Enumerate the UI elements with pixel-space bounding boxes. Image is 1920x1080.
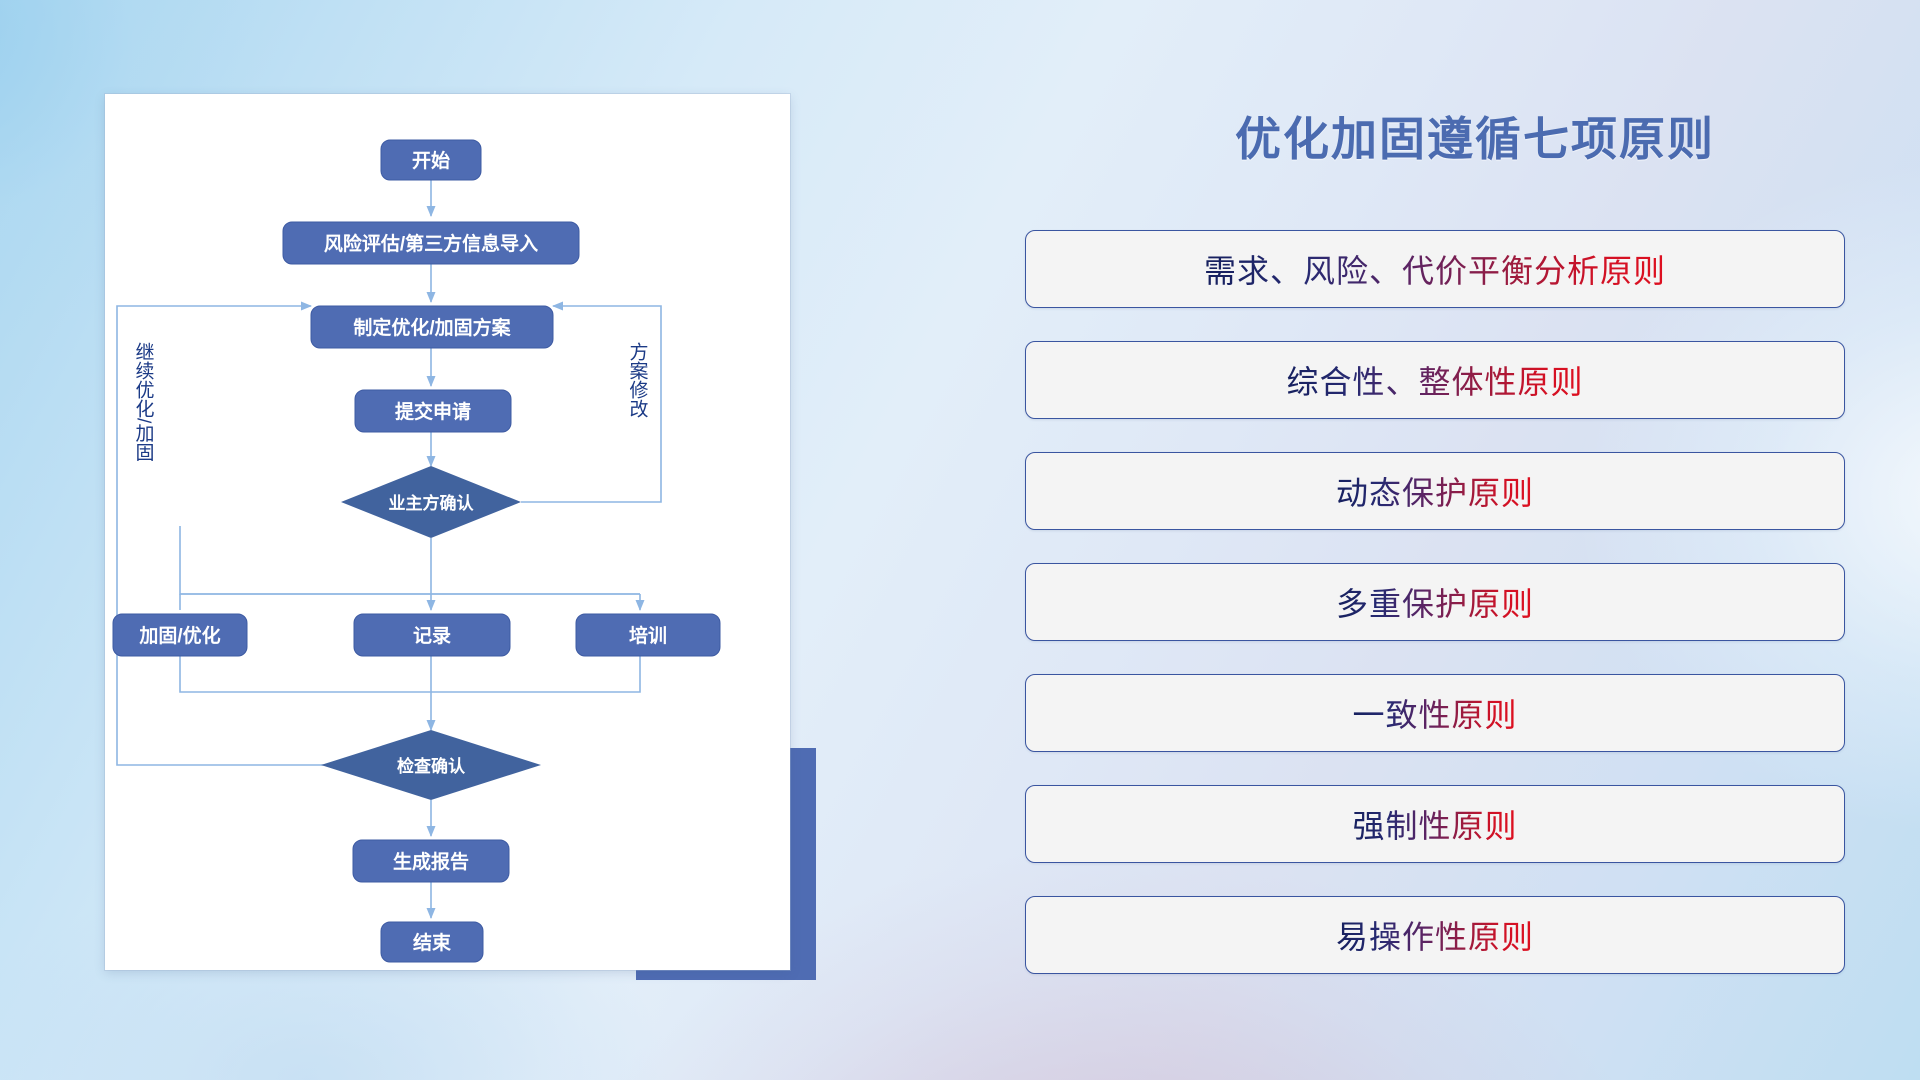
principle-label: 综合性、整体性原则	[1286, 357, 1583, 403]
node-label: 业主方确认	[389, 493, 475, 513]
node-risk-assessment[interactable]: 风险评估/第三方信息导入	[283, 222, 579, 264]
principle-card-2[interactable]: 综合性、整体性原则	[1025, 341, 1845, 419]
node-generate-report[interactable]: 生成报告	[353, 840, 509, 882]
principles-panel: 优化加固遵循七项原则 需求、风险、代价平衡分析原则 综合性、整体性原则 动态保护…	[1020, 0, 1900, 1080]
principle-label: 一致性原则	[1352, 690, 1517, 736]
node-end[interactable]: 结束	[381, 922, 483, 962]
node-owner-confirm[interactable]: 业主方确认	[341, 466, 521, 538]
principle-card-5[interactable]: 一致性原则	[1025, 674, 1845, 752]
principle-card-6[interactable]: 强制性原则	[1025, 785, 1845, 863]
flowchart-diagram: 开始 风险评估/第三方信息导入 制定优化/加固方案 提交申请 业主方确认 加固/…	[105, 94, 790, 970]
node-label: 检查确认	[397, 756, 466, 776]
node-label: 开始	[412, 149, 450, 172]
node-label: 加固/优化	[138, 624, 220, 647]
principle-card-3[interactable]: 动态保护原则	[1025, 452, 1845, 530]
principle-card-7[interactable]: 易操作性原则	[1025, 896, 1845, 974]
principle-label: 易操作性原则	[1336, 912, 1534, 958]
node-make-plan[interactable]: 制定优化/加固方案	[311, 306, 553, 348]
edge-label-left-loop: 继续优化/加固	[133, 342, 155, 462]
edge-label-right-loop: 方案修改	[627, 342, 649, 418]
principle-label: 动态保护原则	[1336, 468, 1534, 514]
node-check-confirm[interactable]: 检查确认	[321, 730, 541, 800]
principle-label: 多重保护原则	[1336, 579, 1534, 625]
node-training[interactable]: 培训	[576, 614, 720, 656]
node-label: 制定优化/加固方案	[353, 316, 511, 339]
node-label: 风险评估/第三方信息导入	[324, 232, 538, 255]
principle-card-1[interactable]: 需求、风险、代价平衡分析原则	[1025, 230, 1845, 308]
flowchart-panel: 开始 风险评估/第三方信息导入 制定优化/加固方案 提交申请 业主方确认 加固/…	[105, 94, 790, 970]
node-reinforce-optimize[interactable]: 加固/优化	[113, 614, 247, 656]
node-submit-application[interactable]: 提交申请	[355, 390, 511, 432]
principle-card-4[interactable]: 多重保护原则	[1025, 563, 1845, 641]
node-record[interactable]: 记录	[354, 614, 510, 656]
node-label: 结束	[413, 931, 452, 954]
node-label: 记录	[413, 625, 451, 647]
node-label: 提交申请	[395, 400, 471, 423]
panel-title: 优化加固遵循七项原则	[1155, 103, 1795, 169]
principle-label: 强制性原则	[1352, 801, 1517, 847]
node-label: 培训	[629, 624, 667, 647]
node-label: 生成报告	[393, 850, 469, 873]
node-start[interactable]: 开始	[381, 140, 481, 180]
principle-label: 需求、风险、代价平衡分析原则	[1204, 246, 1666, 292]
principle-list: 需求、风险、代价平衡分析原则 综合性、整体性原则 动态保护原则 多重保护原则 一…	[1025, 230, 1845, 1007]
